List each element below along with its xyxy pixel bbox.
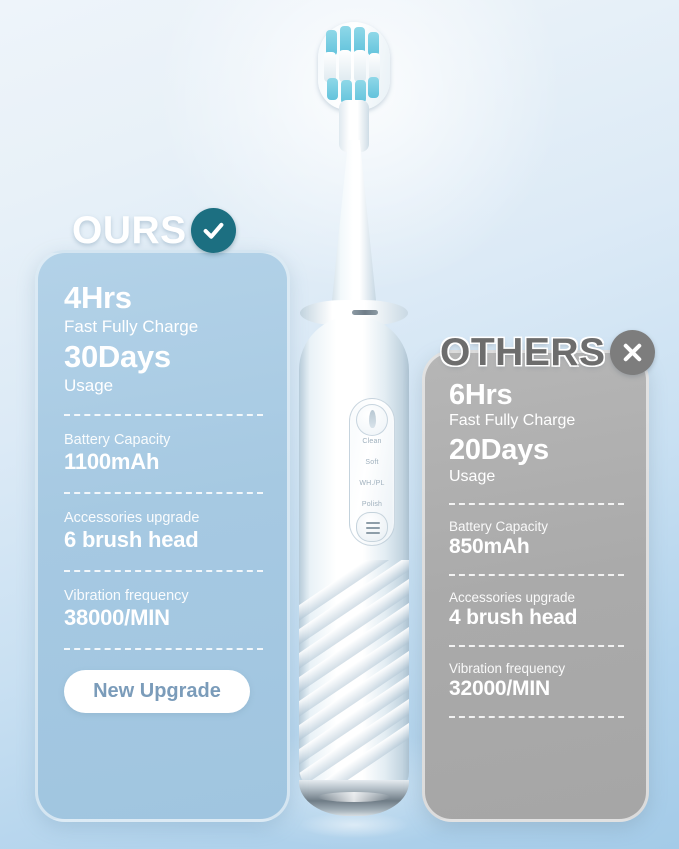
surface-reflection: [300, 812, 408, 838]
ours-brand-label: OURS: [72, 211, 187, 250]
ours-comparison-card: 4Hrs Fast Fully Charge 30Days Usage Batt…: [35, 250, 290, 822]
mode-indicator-button[interactable]: [356, 404, 388, 436]
ours-spec-battery: Battery Capacity 1100mAh: [64, 432, 265, 475]
divider: [449, 645, 624, 647]
others-spec-battery: Battery Capacity 850mAh: [449, 519, 626, 559]
handle-grip-texture: [299, 560, 409, 790]
power-button-icon[interactable]: [356, 512, 388, 542]
brush-neck: [330, 140, 378, 320]
brush-collar: [300, 300, 408, 326]
others-brand-label: OTHERS: [440, 333, 606, 372]
divider: [64, 648, 263, 650]
x-icon: [610, 330, 655, 375]
ours-spec-vibration: Vibration frequency 38000/MIN: [64, 588, 265, 631]
mode-label-polish: Polish: [349, 501, 395, 508]
mode-label-whpl: WH./PL: [349, 480, 395, 487]
mode-label-soft: Soft: [349, 459, 395, 466]
mode-control-panel[interactable]: [349, 398, 395, 546]
others-charge-value: 6Hrs: [449, 379, 626, 411]
ours-usage-label: Usage: [64, 375, 265, 397]
check-icon: [191, 208, 236, 253]
mode-label-clean: Clean: [349, 438, 395, 445]
collar-seam: [352, 310, 378, 315]
ours-usage-value: 30Days: [64, 340, 265, 375]
others-charge-label: Fast Fully Charge: [449, 411, 626, 432]
ours-brand-header: OURS: [72, 208, 236, 253]
divider: [64, 570, 263, 572]
brush-head-stem: [339, 100, 369, 152]
others-usage-value: 20Days: [449, 434, 626, 466]
brush-handle: [299, 316, 409, 794]
brush-head-bristles: [318, 22, 390, 110]
divider: [449, 503, 624, 505]
brush-metallic-base: [299, 780, 409, 816]
tooth-icon: [369, 410, 376, 428]
others-spec-accessories: Accessories upgrade 4 brush head: [449, 590, 626, 630]
base-highlight: [318, 792, 390, 802]
divider: [449, 574, 624, 576]
divider: [64, 414, 263, 416]
divider: [449, 716, 624, 718]
new-upgrade-badge: New Upgrade: [64, 670, 250, 713]
others-comparison-card: 6Hrs Fast Fully Charge 20Days Usage Batt…: [422, 350, 649, 822]
others-brand-header: OTHERS: [440, 330, 655, 375]
others-spec-vibration: Vibration frequency 32000/MIN: [449, 661, 626, 701]
ours-charge-value: 4Hrs: [64, 281, 265, 316]
others-usage-label: Usage: [449, 467, 626, 488]
ours-spec-accessories: Accessories upgrade 6 brush head: [64, 510, 265, 553]
divider: [64, 492, 263, 494]
ours-charge-label: Fast Fully Charge: [64, 316, 265, 338]
